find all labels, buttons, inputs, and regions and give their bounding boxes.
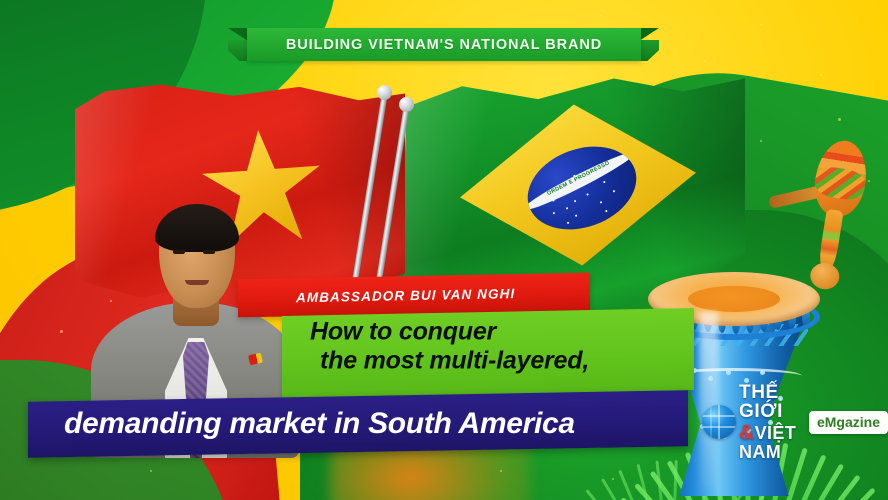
flagpole-front-finial <box>377 85 392 100</box>
logo-line-2: &VIỆT NAM <box>739 422 802 461</box>
drum-head-center <box>688 286 780 312</box>
banner-text: BUILDING VIETNAM'S NATIONAL BRAND <box>286 37 602 53</box>
headline-navy-bar: demanding market in South America <box>28 390 688 458</box>
publication-logo[interactable]: THẾ GIỚI &VIỆT NAM eMgazine <box>702 401 888 443</box>
portrait-eye-left <box>173 250 185 254</box>
banner-ribbon: BUILDING VIETNAM'S NATIONAL BRAND <box>247 28 641 61</box>
portrait-eye-right <box>203 250 215 254</box>
emagazine-cover: ORDEM E PROGRESSO BUILDING VIETNAM'S NAT… <box>0 0 888 500</box>
ambassador-name-text: AMBASSADOR BUI VAN NGHI <box>238 284 590 306</box>
headline-line-3: demanding market in South America <box>28 407 688 441</box>
flagpole-back-finial <box>399 97 414 112</box>
headline-lines: How to conquer the most multi-layered, <box>310 318 589 376</box>
logo-ampersand: & <box>739 421 755 444</box>
headline-line-2: the most multi-layered, <box>310 347 589 376</box>
logo-line-1: THẾ GIỚI <box>739 383 802 421</box>
headline-green-block: How to conquer the most multi-layered, <box>282 308 694 398</box>
globe-icon <box>702 405 736 439</box>
portrait-mouth <box>185 280 209 285</box>
portrait-hair <box>155 204 239 252</box>
logo-wordmark: THẾ GIỚI &VIỆT NAM <box>739 383 802 461</box>
drum-highlight <box>700 312 718 488</box>
emagazine-badge: eMgazine <box>809 411 888 434</box>
headline-line-1: How to conquer <box>310 318 589 347</box>
